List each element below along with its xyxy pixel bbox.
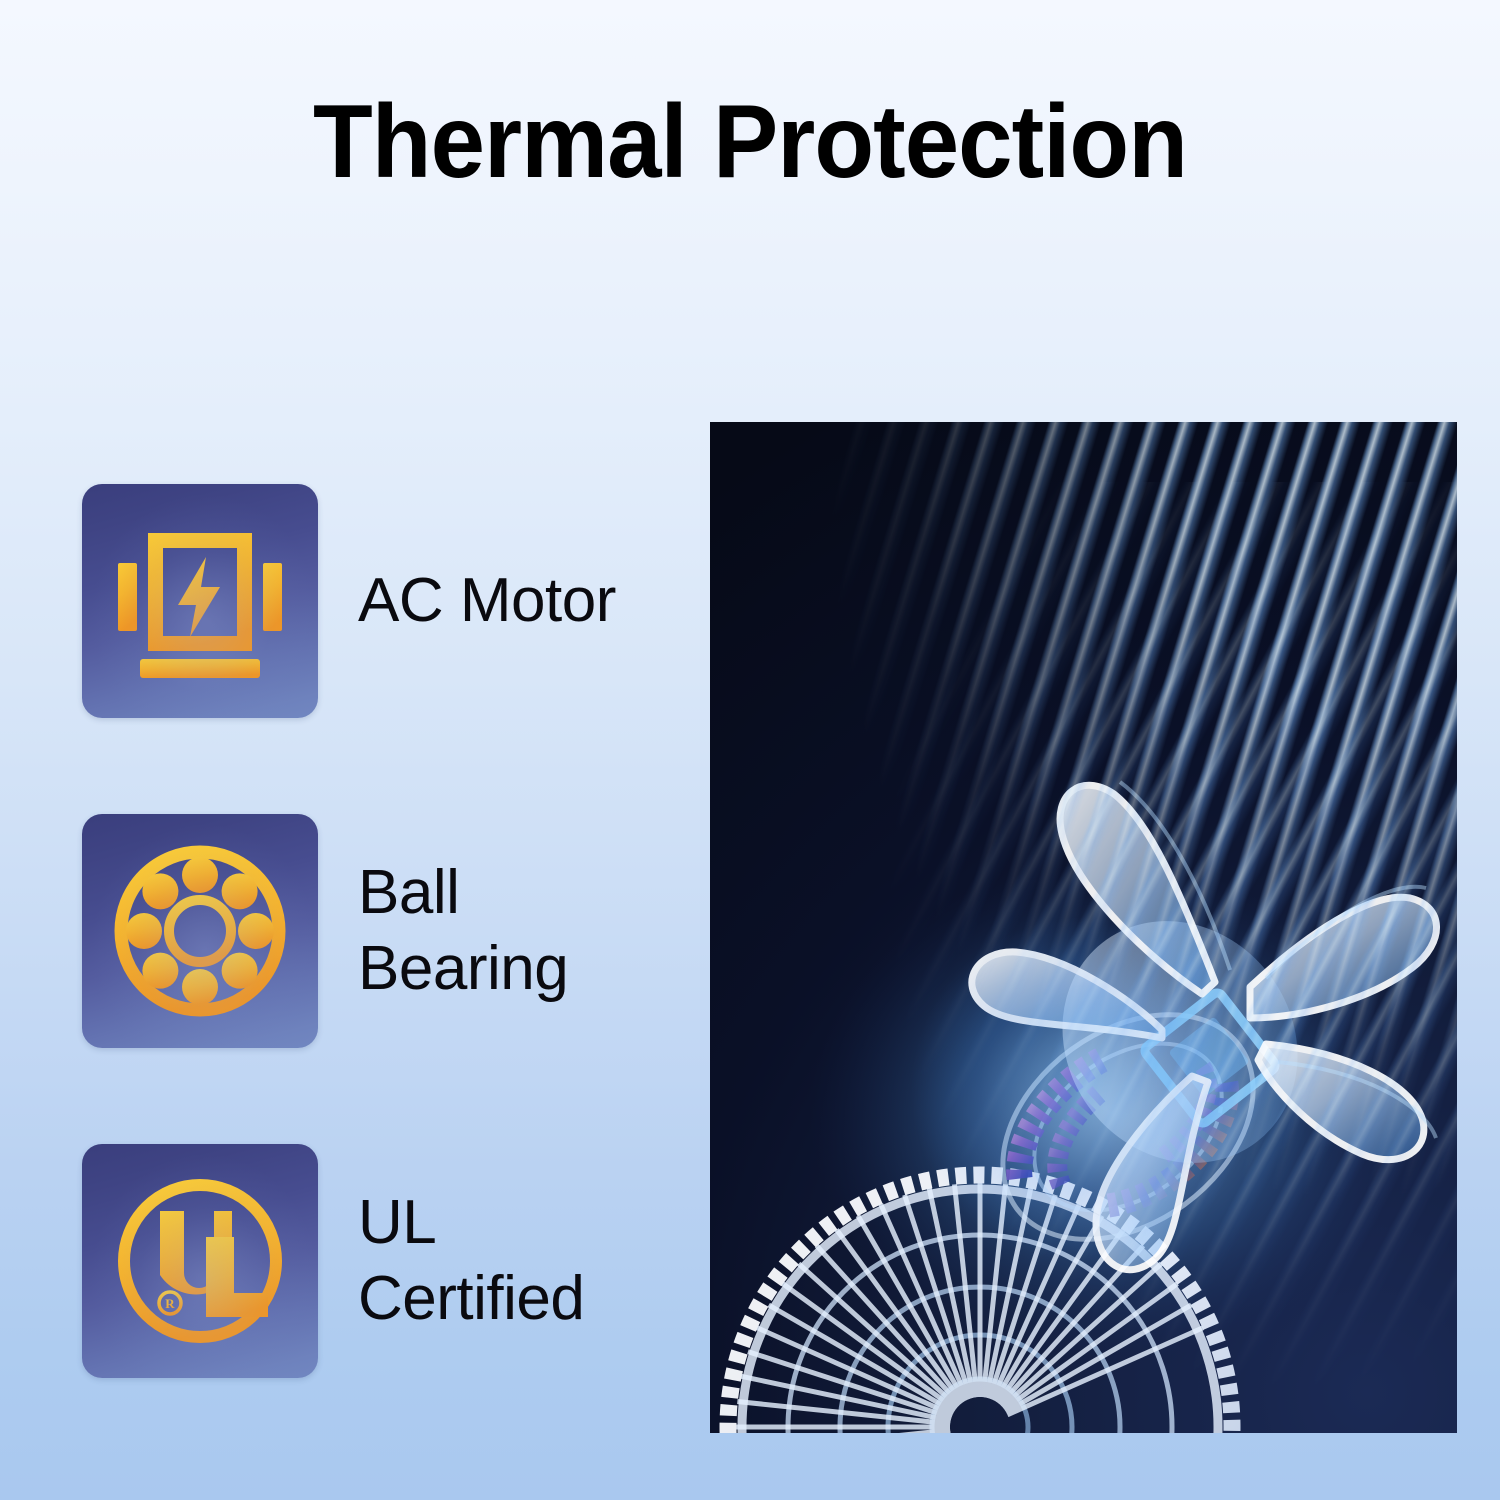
product-photo [710,422,1457,1433]
feature-list: AC Motor [82,484,682,1378]
infographic-page: Thermal Protection [0,0,1500,1500]
ac-motor-icon [110,511,290,691]
feature-label-ball-bearing: Ball Bearing [358,855,568,1006]
feature-label-ac-motor: AC Motor [358,563,616,639]
svg-text:R: R [165,1296,175,1311]
feature-label-ul-certified: UL Certified [358,1185,584,1336]
ball-bearing-icon [110,841,290,1021]
feature-item-ball-bearing: Ball Bearing [82,814,682,1048]
feature-item-ac-motor: AC Motor [82,484,682,718]
motor-glow [710,422,1457,1433]
ball-bearing-icon-tile [82,814,318,1048]
ac-motor-icon-tile [82,484,318,718]
ul-certified-icon-tile: R [82,1144,318,1378]
ul-certified-icon: R [110,1171,290,1351]
feature-item-ul-certified: R UL Certified [82,1144,682,1378]
page-title: Thermal Protection [45,88,1455,197]
